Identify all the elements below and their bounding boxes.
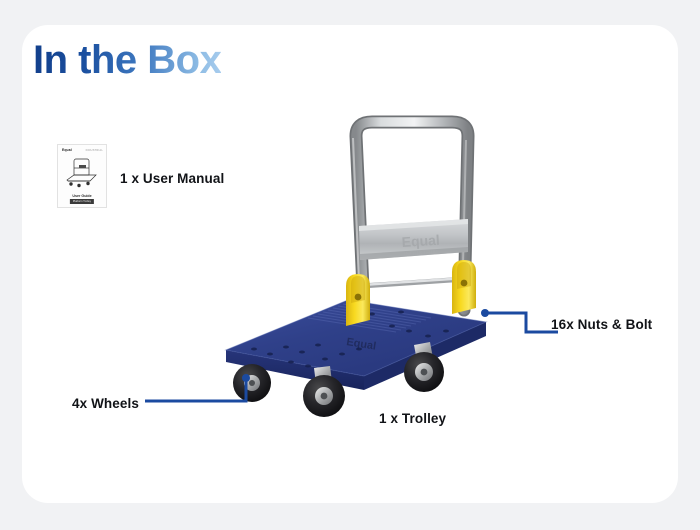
leader-line-nuts-and-bolt: [480, 305, 560, 340]
svg-text:INDUSTRIAL: INDUSTRIAL: [404, 250, 441, 258]
plate-brand-text: Equal: [401, 232, 440, 250]
callout-label-trolley: 1 x Trolley: [379, 411, 446, 426]
hinge-bracket-left: [346, 274, 370, 326]
callout-label-nuts-and-bolt: 16x Nuts & Bolt: [551, 317, 652, 332]
manual-title: User Guide: [58, 194, 106, 198]
poster-page: In the Box Equal INDUSTRIAL User Guide P…: [0, 0, 700, 530]
trolley-illustration: Equal INDUSTRIAL Equal: [196, 100, 516, 420]
manual-trolley-line-art: [63, 156, 101, 191]
manual-badge: Platform Trolley: [70, 199, 94, 204]
manual-brand-sub: INDUSTRIAL: [86, 149, 103, 152]
callout-label-wheels: 4x Wheels: [72, 396, 139, 411]
manual-brand: Equal: [62, 148, 72, 152]
handle-brand-plate: Equal INDUSTRIAL: [359, 219, 468, 260]
hinge-bracket-right: [452, 260, 476, 314]
user-manual-thumbnail: Equal INDUSTRIAL User Guide Platform Tro…: [57, 144, 107, 208]
page-title: In the Box: [33, 38, 221, 83]
leader-line-wheels: [143, 373, 258, 408]
